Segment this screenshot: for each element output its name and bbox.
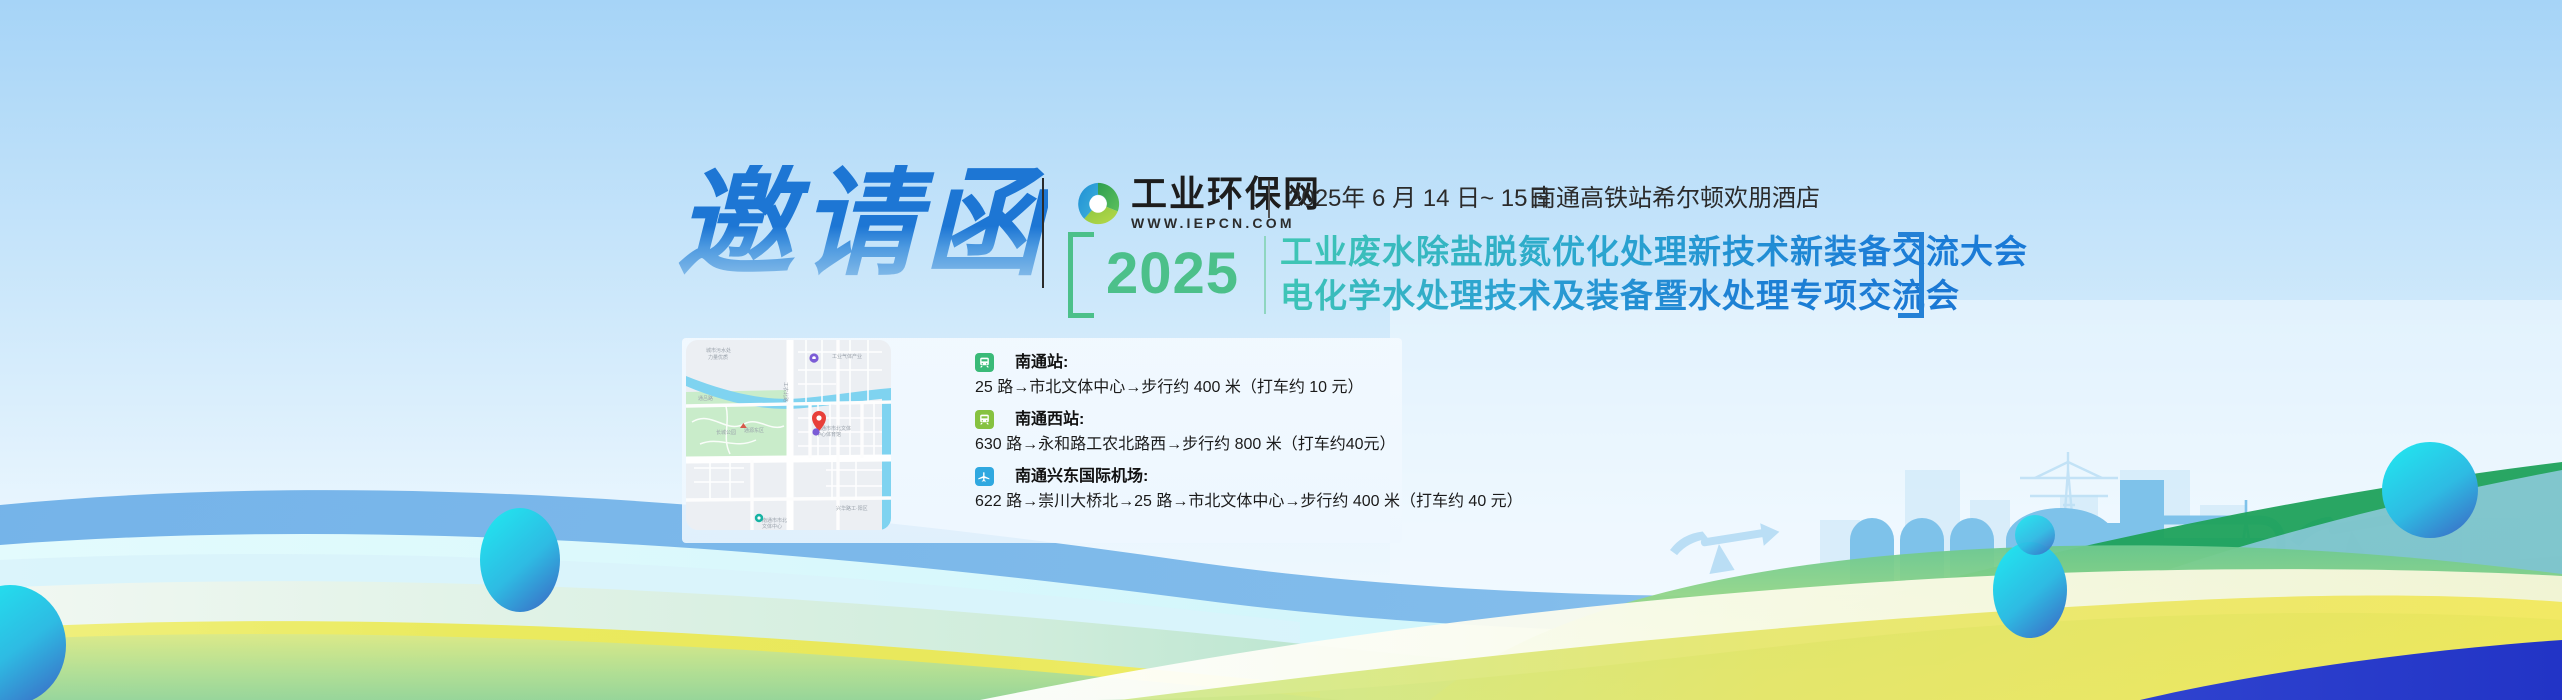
ring-logo-icon [1075,181,1121,227]
route-item: 南通站: 25 路→市北文体中心→步行约 400 米（打车约 10 元） [975,352,1595,399]
venue-location-map[interactable]: 城市污水处 力量优质 通吕路 长城公园 通源东区 工农北路 工业气体产业 南通市… [686,340,891,530]
plane-icon [975,467,994,486]
brand-url: WWW.IEPCN.COM [1131,215,1321,231]
train-icon [975,410,994,429]
svg-text:通吕路: 通吕路 [698,395,713,402]
route-name: 南通西站: [1015,410,1084,429]
event-date: 2025年 6 月 14 日~ 15日 [1288,184,1551,214]
svg-text:南通市市北: 南通市市北 [762,517,787,524]
route-desc: 25 路→市北文体中心→步行约 400 米（打车约 10 元） [975,377,1595,399]
svg-text:长城公园: 长城公园 [716,429,736,436]
map-pin-teal [755,514,763,522]
brand-logo[interactable]: 工业环保网 WWW.IEPCN.COM [1075,176,1321,231]
route-item: 南通西站: 630 路→永和路工农北路西→步行约 800 米（打车约40元） [975,409,1595,456]
route-name: 南通站: [1015,353,1068,372]
banner-stage: 邀请函 [0,0,2562,700]
map-graphic: 城市污水处 力量优质 通吕路 长城公园 通源东区 工农北路 工业气体产业 南通市… [686,340,891,530]
route-list: 南通站: 25 路→市北文体中心→步行约 400 米（打车约 10 元） 南通西… [975,352,1595,513]
svg-text:工农北路: 工农北路 [782,382,789,402]
svg-text:文体中心: 文体中心 [762,523,782,530]
conference-divider [1264,236,1266,314]
meta-divider [1268,180,1270,218]
svg-text:通源东区: 通源东区 [744,427,764,434]
svg-text:力量优质: 力量优质 [708,354,728,361]
route-desc: 622 路→崇川大桥北→25 路→市北文体中心→步行约 400 米（打车约 40… [975,491,1595,513]
title-divider [1042,178,1044,288]
bracket-left-icon [1068,232,1094,318]
svg-text:兴华路工·阳区: 兴华路工·阳区 [836,505,868,512]
event-venue: 南通高铁站希尔顿欢朋酒店 [1532,184,1820,214]
bracket-right-icon [1898,232,1924,318]
page-title: 邀请函 [676,165,1048,283]
svg-text:城市污水处: 城市污水处 [706,347,731,354]
svg-text:中心体育馆: 中心体育馆 [816,431,841,438]
conference-year: 2025 [1106,238,1239,310]
route-item: 南通兴东国际机场: 622 路→崇川大桥北→25 路→市北文体中心→步行约 40… [975,466,1595,513]
route-name: 南通兴东国际机场: [1015,467,1148,486]
route-desc: 630 路→永和路工农北路西→步行约 800 米（打车约40元） [975,434,1595,456]
train-icon [975,353,994,372]
svg-text:工业气体产业: 工业气体产业 [832,353,862,360]
